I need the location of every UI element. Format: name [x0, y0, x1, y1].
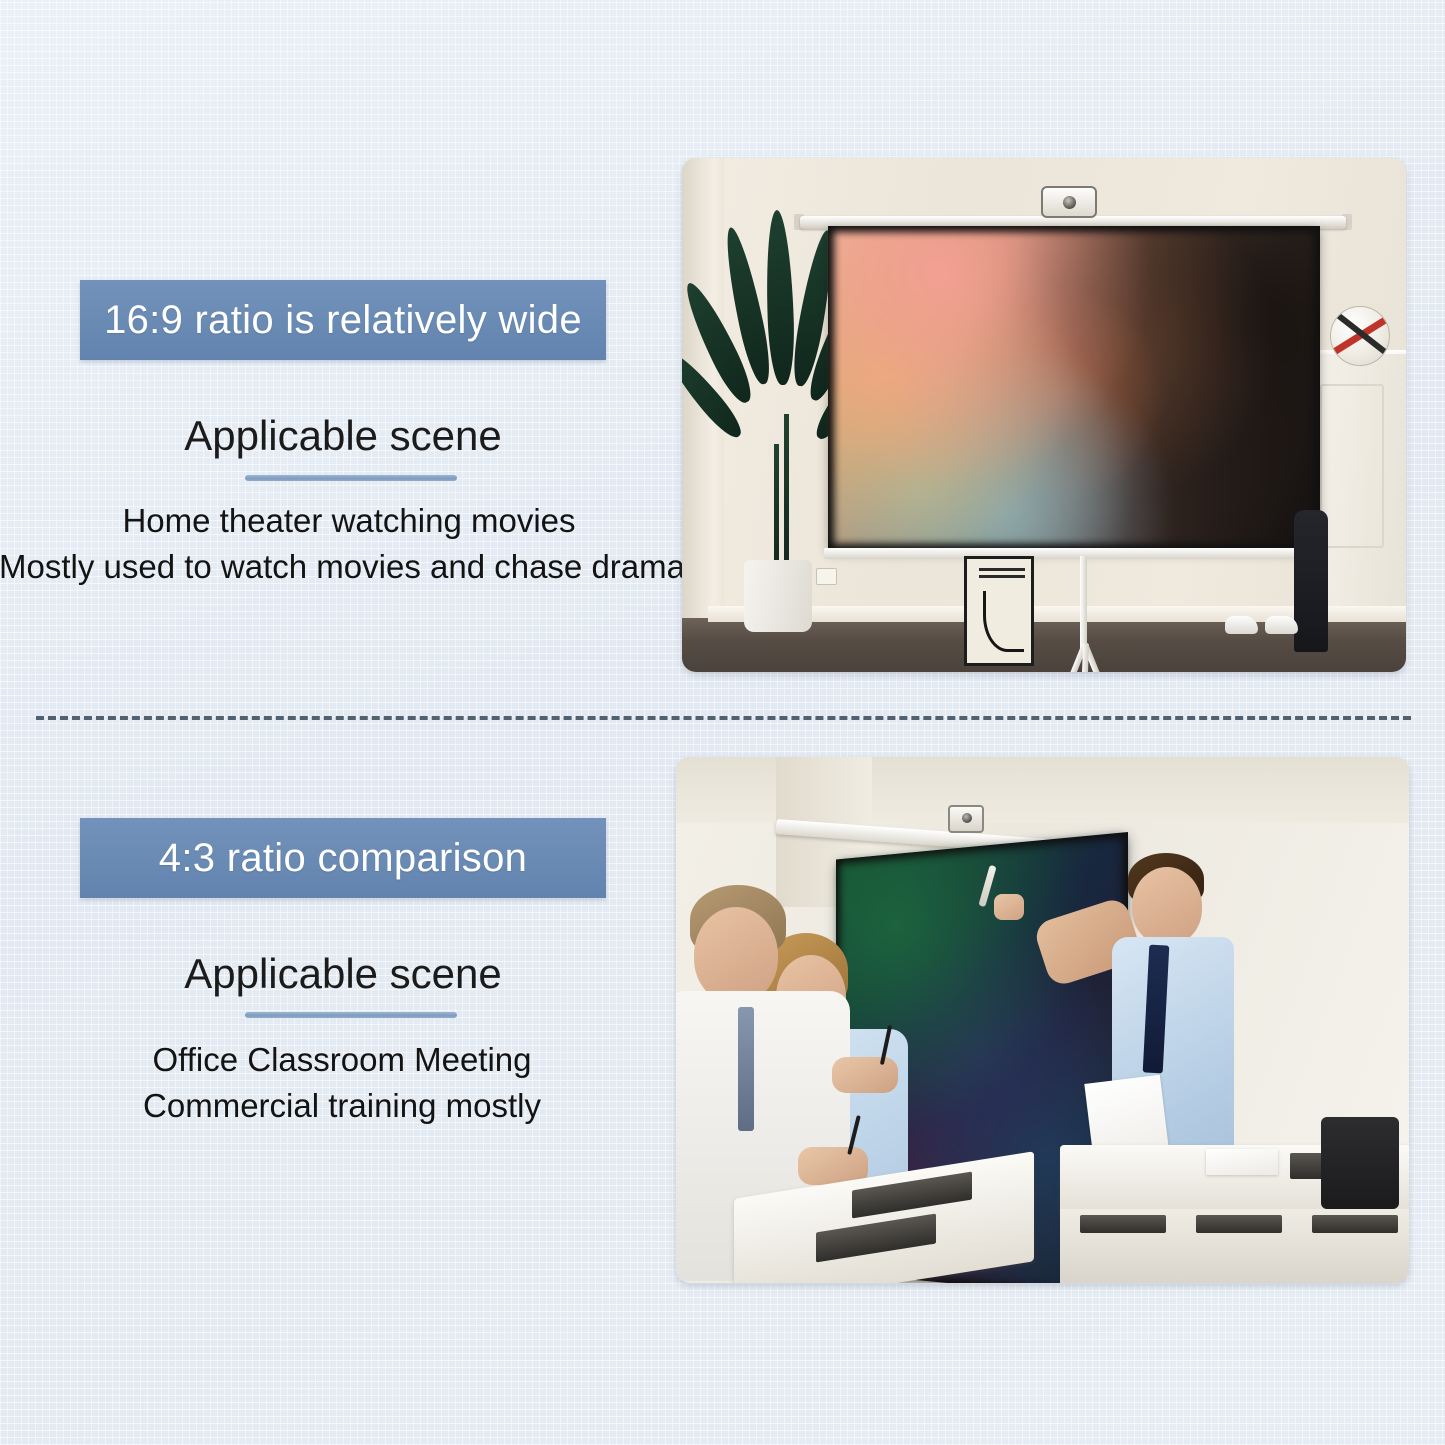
desk-front-slot-2: [1196, 1215, 1282, 1233]
desk-front-slot-1: [1080, 1215, 1166, 1233]
fireplace-panel: [1320, 384, 1384, 548]
projector-device: [1041, 186, 1097, 218]
projector-device: [948, 805, 984, 833]
home-theater-photo: Zoe: [682, 158, 1406, 672]
plant-stem: [784, 414, 789, 564]
decor-ball: [1330, 306, 1390, 366]
scene-description-line-1: Office Classroom Meeting: [0, 1037, 692, 1083]
scene-description-line-2: Mostly used to watch movies and chase dr…: [0, 544, 699, 590]
projection-screen-16-9: [828, 226, 1320, 550]
poster-line-art-face: [983, 591, 1024, 652]
desk-front-slot-3: [1312, 1215, 1398, 1233]
attendee-front-necktie: [738, 1007, 754, 1131]
slipper-right: [1265, 616, 1298, 634]
ratio-banner-4-3: 4:3 ratio comparison: [80, 818, 606, 898]
attendee-back-hand: [832, 1057, 898, 1093]
scene-description-4-3: Office Classroom Meeting Commercial trai…: [0, 1037, 692, 1129]
scene-description-16-9: Home theater watching movies Mostly used…: [0, 498, 699, 590]
projected-movie-image: [834, 232, 1314, 544]
presenter-hand: [994, 894, 1024, 920]
scene-heading-4-3: Applicable scene: [80, 950, 606, 998]
scene-heading-underline-16-9: [245, 475, 457, 481]
section-divider-dashed: [36, 716, 1411, 720]
hanging-garment-bag: [1294, 510, 1328, 652]
presenter-desk-notebook: [1206, 1149, 1278, 1175]
scene-heading-underline-4-3: [245, 1012, 457, 1018]
home-theater-photo-content: Zoe: [682, 158, 1406, 672]
ratio-banner-16-9: 16:9 ratio is relatively wide: [80, 280, 606, 360]
plant-pot: [744, 560, 812, 632]
meeting-room-photo: [676, 757, 1409, 1283]
tripod-leg: [1081, 644, 1089, 672]
scene-heading-16-9: Applicable scene: [80, 412, 606, 460]
presenter-head: [1132, 867, 1202, 945]
scene-description-line-1: Home theater watching movies: [0, 498, 699, 544]
tripod-post: [1080, 556, 1087, 648]
scene-description-line-2: Commercial training mostly: [0, 1083, 692, 1129]
meeting-room-photo-content: [676, 757, 1409, 1283]
meeting-chair: [1321, 1117, 1399, 1209]
framed-face-poster: [964, 556, 1034, 666]
ratio-banner-label-16-9: 16:9 ratio is relatively wide: [104, 298, 582, 343]
photo-script-watermark: Zoe: [1402, 582, 1406, 618]
slipper-left: [1225, 616, 1258, 634]
wall-outlet: [816, 568, 837, 585]
product-infographic-page: 16:9 ratio is relatively wide Applicable…: [0, 0, 1445, 1445]
poster-text-lines: [979, 568, 1025, 571]
attendee-front-head: [694, 907, 778, 1003]
screen-bottom-weight-bar: [824, 548, 1324, 559]
plant-stem: [774, 444, 779, 564]
ratio-banner-label-4-3: 4:3 ratio comparison: [159, 836, 527, 881]
